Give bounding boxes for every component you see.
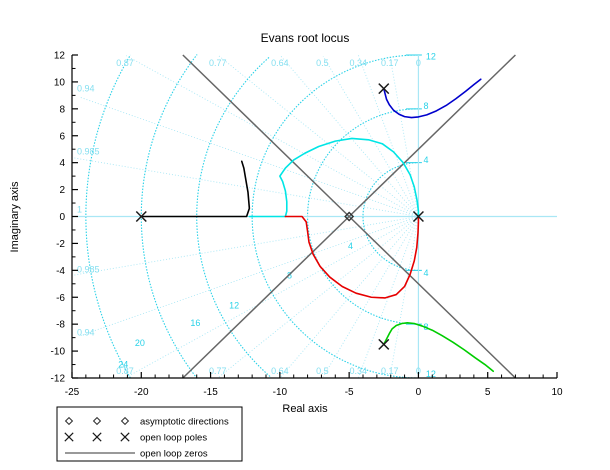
wn-label-12-4: 12 [426, 51, 436, 61]
wn-label-4-0: 4 [424, 155, 429, 165]
damping-label-side-1: 0.985 [77, 147, 100, 157]
damping-label-bottom-0.77: 0.77 [209, 366, 227, 376]
damping-label-top-0.77: 0.77 [209, 58, 227, 68]
damping-label-top-0.17: 0.17 [381, 58, 399, 68]
figure-canvas: Evans root locus Imaginary axis Real axi… [0, 0, 610, 470]
wn-label-16-9: 16 [190, 318, 200, 328]
wn-label-12-8: 12 [229, 300, 239, 310]
wn-label-4-1: 4 [424, 268, 429, 278]
x-tick-label: -20 [134, 387, 149, 398]
x-tick-label: -5 [345, 387, 354, 398]
damping-label-top-0: 0 [416, 58, 421, 68]
damping-label-bottom-0.34: 0.34 [350, 366, 368, 376]
legend-item-label: open loop zeros [140, 449, 208, 460]
x-tick-label: -10 [273, 387, 288, 398]
wn-label-24-11: 24 [118, 360, 128, 370]
y-tick-label: -4 [56, 266, 65, 277]
x-tick-label: 5 [485, 387, 491, 398]
damping-label-side-0: 0.94 [77, 83, 95, 93]
legend[interactable]: asymptotic directionsopen loop polesopen… [57, 407, 242, 461]
x-tick-label: -15 [203, 387, 218, 398]
y-tick-label: -8 [56, 320, 65, 331]
damping-label-side-3: 0.985 [77, 264, 100, 274]
wn-label-8-2: 8 [424, 101, 429, 111]
root-locus-figure: Evans root locus Imaginary axis Real axi… [0, 0, 610, 470]
x-tick-label: 10 [551, 387, 563, 398]
damping-label-top-0.5: 0.5 [316, 58, 329, 68]
x-tick-label: -25 [65, 387, 80, 398]
figure-background [0, 0, 610, 470]
y-tick-label: 8 [59, 104, 65, 115]
chart-title: Evans root locus [261, 31, 350, 45]
damping-label-bottom-0.5: 0.5 [316, 366, 329, 376]
damping-label-side-1: 1 [77, 205, 82, 215]
y-tick-label: 2 [59, 185, 65, 196]
y-tick-label: 6 [59, 131, 65, 142]
y-tick-label: -12 [51, 374, 66, 385]
x-axis-label: Real axis [282, 403, 328, 415]
damping-label-side-4: 0.94 [77, 328, 95, 338]
damping-label-top-0.34: 0.34 [350, 58, 368, 68]
y-tick-label: -6 [56, 293, 65, 304]
y-tick-label: -10 [51, 347, 66, 358]
y-axis-label: Imaginary axis [9, 181, 21, 252]
legend-item-label: asymptotic directions [140, 417, 229, 428]
wn-label-4-6: 4 [348, 241, 353, 251]
wn-label-20-10: 20 [135, 338, 145, 348]
legend-item-label: open loop poles [140, 433, 207, 444]
y-tick-label: 4 [59, 158, 65, 169]
y-tick-label: 10 [54, 77, 66, 88]
damping-label-top-0.87: 0.87 [116, 58, 134, 68]
x-tick-label: 0 [416, 387, 422, 398]
y-tick-label: 0 [59, 212, 65, 223]
damping-label-top-0.64: 0.64 [271, 58, 289, 68]
y-tick-label: -2 [56, 239, 65, 250]
damping-label-bottom-0.17: 0.17 [381, 366, 399, 376]
y-tick-label: 12 [54, 51, 66, 62]
